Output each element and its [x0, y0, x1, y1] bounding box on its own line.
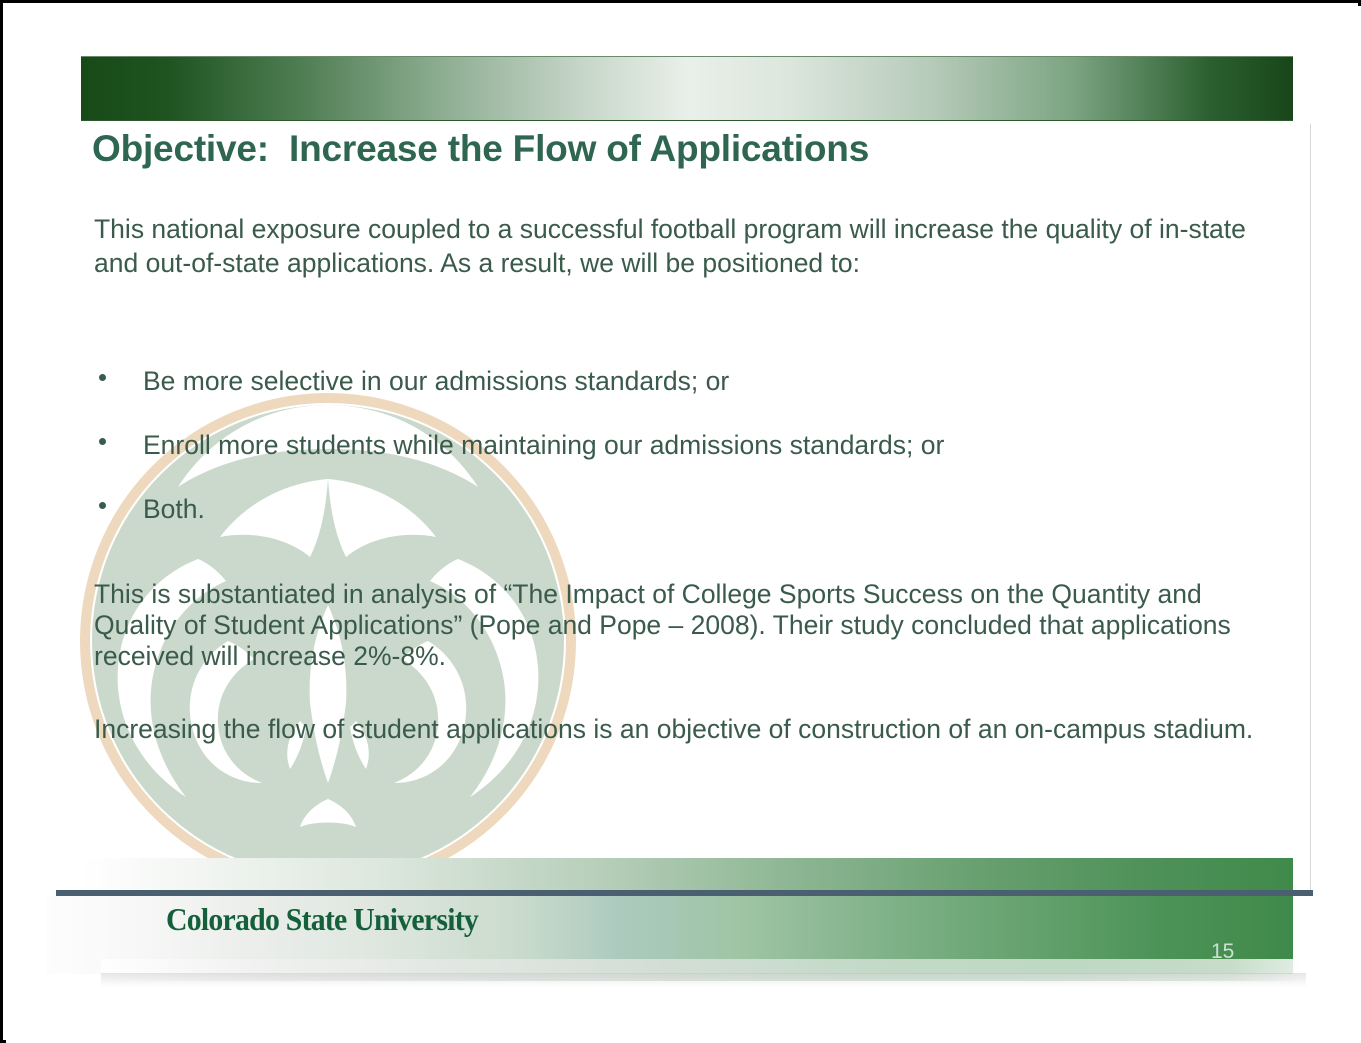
- list-item: Enroll more students while maintaining o…: [94, 428, 1254, 492]
- footer-shadow-strip: [101, 973, 1306, 987]
- slide-page-frame: Objective: Increase the Flow of Applicat…: [0, 0, 1361, 1043]
- closing-paragraph: Increasing the flow of student applicati…: [94, 714, 1254, 745]
- slide-content-edge-line: [1310, 124, 1311, 896]
- list-item: Both.: [94, 492, 1254, 556]
- page-title: Objective: Increase the Flow of Applicat…: [92, 128, 1272, 170]
- slide-footer: Colorado State University 15: [6, 851, 1361, 991]
- list-item-label: Be more selective in our admissions stan…: [143, 364, 729, 398]
- presentation-slide: Objective: Increase the Flow of Applicat…: [6, 6, 1361, 1043]
- footer-divider-rule: [56, 890, 1313, 896]
- page-number: 15: [1211, 940, 1234, 964]
- bullet-dot-icon: [99, 374, 106, 381]
- university-wordmark: Colorado State University: [166, 901, 478, 938]
- footer-green-band-top: [81, 858, 1293, 890]
- list-item-label: Both.: [143, 492, 205, 526]
- intro-paragraph: This national exposure coupled to a succ…: [94, 212, 1279, 280]
- study-citation-paragraph: This is substantiated in analysis of “Th…: [94, 579, 1284, 672]
- list-item: Be more selective in our admissions stan…: [94, 364, 1254, 428]
- header-gradient-bar: [81, 56, 1293, 121]
- bullet-dot-icon: [99, 438, 106, 445]
- bullet-dot-icon: [99, 502, 106, 509]
- list-item-label: Enroll more students while maintaining o…: [143, 428, 944, 462]
- bullet-list: Be more selective in our admissions stan…: [94, 364, 1254, 556]
